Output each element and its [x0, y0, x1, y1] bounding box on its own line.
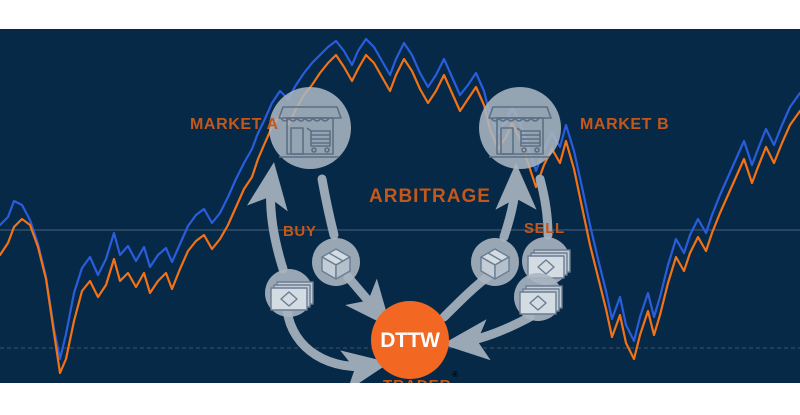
sell-label: SELL [524, 220, 565, 237]
market-b-label: MARKET B [580, 116, 669, 134]
banknote-stack-icon[interactable] [514, 273, 562, 321]
dttw-logo-badge[interactable]: DTTW ® [371, 301, 449, 379]
package-box-icon[interactable] [471, 238, 519, 286]
storefront-icon[interactable] [269, 87, 351, 169]
storefront-icon[interactable] [479, 87, 561, 169]
arbitrage-title: ARBITRAGE [369, 186, 491, 208]
market-a-label: MARKET A [190, 116, 279, 134]
package-box-icon[interactable] [312, 238, 360, 286]
buy-label: BUY [283, 223, 316, 240]
registered-trademark-icon: ® [452, 370, 458, 379]
infographic-root: MARKET A MARKET B ARBITRAGE BUY SELL TRA… [0, 0, 800, 415]
infographic-panel: MARKET A MARKET B ARBITRAGE BUY SELL TRA… [0, 29, 800, 383]
banknote-stack-icon[interactable] [265, 269, 313, 317]
dttw-wordmark: DTTW [380, 330, 439, 351]
